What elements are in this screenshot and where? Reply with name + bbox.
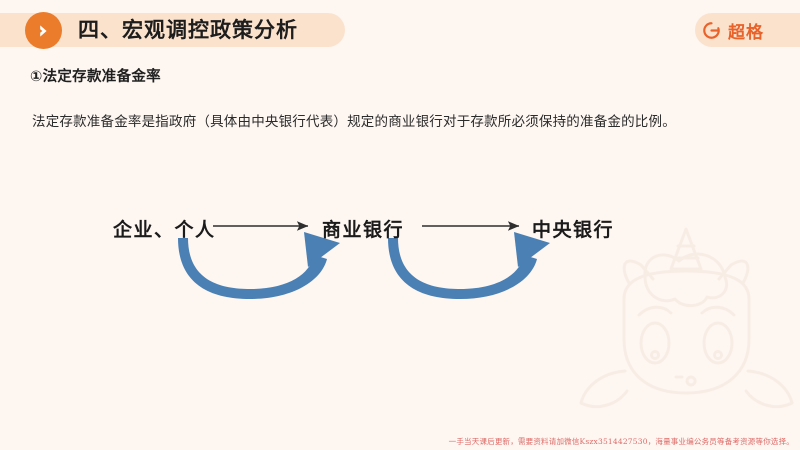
slide-canvas: 四、宏观调控政策分析 超格 ①法定存款准备金率 法定存款准备金率是指政府（具体由…	[0, 0, 800, 450]
curved-arrow-1	[178, 232, 340, 299]
flow-diagram: 企业、个人 商业银行 中央银行	[95, 185, 655, 300]
brand-name: 超格	[728, 18, 764, 43]
page-title: 四、宏观调控政策分析	[78, 14, 298, 48]
definition-paragraph: 法定存款准备金率是指政府（具体由中央银行代表）规定的商业银行对于存款所必须保持的…	[32, 111, 772, 133]
section-subheading: ①法定存款准备金率	[30, 65, 161, 86]
flow-node-commercial-bank: 商业银行	[322, 215, 404, 242]
flow-node-enterprise-individual: 企业、个人	[113, 215, 216, 242]
curved-arrow-2	[388, 232, 550, 299]
chevron-right-icon	[25, 12, 62, 49]
flow-node-central-bank: 中央银行	[532, 215, 614, 242]
footer-watermark-text: 一手当天课后更新，需要资料请加微信Kszx3514427530，海量事业编公务员…	[449, 436, 794, 447]
brand-logo: 超格	[702, 13, 764, 47]
circle-g-logo-icon	[702, 21, 721, 40]
flow-diagram-arrows	[95, 185, 655, 300]
